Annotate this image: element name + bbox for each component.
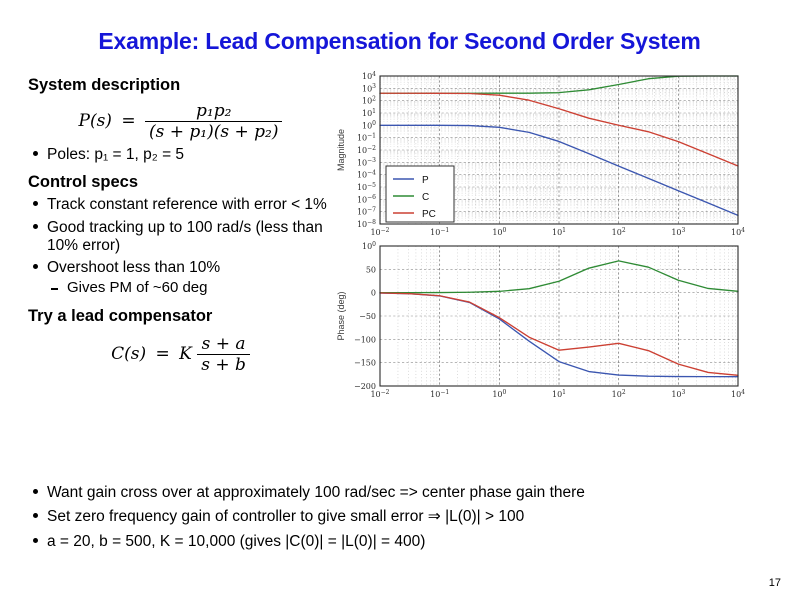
list-item: Good tracking up to 100 rad/s (less than…: [28, 219, 333, 256]
tick-label: 103: [671, 389, 685, 399]
list-item: Want gain cross over at approximately 10…: [28, 484, 773, 502]
legend-label-P: P: [422, 175, 429, 186]
heading-control-specs: Control specs: [28, 173, 333, 192]
tick-label: −200: [354, 382, 376, 391]
bode-plot-svg: 10−210−110010110210310410410310210110010…: [330, 70, 792, 400]
tick-label: 104: [362, 71, 376, 81]
page-title: Example: Lead Compensation for Second Or…: [0, 28, 799, 55]
tick-label: 100: [492, 389, 506, 399]
list-item: a = 20, b = 500, K = 10,000 (gives |C(0)…: [28, 533, 773, 551]
equation-plant-denominator: (s + p₁)(s + p₂): [145, 121, 282, 142]
equation-plant: P(s) = p₁p₂ (s + p₁)(s + p₂): [28, 101, 333, 142]
tick-label: 100: [362, 120, 376, 130]
equation-plant-numerator: p₁p₂: [145, 101, 282, 121]
left-content-column: System description P(s) = p₁p₂ (s + p₁)(…: [28, 76, 333, 379]
tick-label: 10−2: [370, 227, 389, 237]
tick-label: 10−3: [357, 157, 376, 167]
tick-label: −100: [354, 335, 376, 344]
tick-label: 102: [612, 227, 626, 237]
tick-label: 103: [671, 227, 685, 237]
system-description-bullets: Poles: p₁ = 1, p₂ = 5: [28, 146, 333, 164]
equation-plant-fraction: p₁p₂ (s + p₁)(s + p₂): [145, 101, 282, 142]
tick-label: 10−5: [357, 182, 376, 192]
y-axis-label: Magnitude: [336, 129, 346, 171]
tick-label: 100: [492, 227, 506, 237]
list-item: Track constant reference with error < 1%: [28, 196, 333, 214]
equation-compensator-equals: =: [155, 344, 169, 364]
heading-system-description: System description: [28, 76, 333, 95]
tick-label: 0: [371, 289, 376, 298]
tick-label: 10−4: [357, 169, 376, 179]
tick-label: 10−1: [430, 227, 449, 237]
heading-lead-compensator: Try a lead compensator: [28, 307, 333, 326]
phase-bode: 10−210−1100101102103104100500−50−100−150…: [336, 241, 745, 400]
tick-label: 104: [731, 389, 745, 399]
tick-label: 50: [366, 265, 376, 274]
equation-compensator-denominator: s + b: [197, 354, 250, 375]
legend: PCPC: [386, 166, 454, 222]
tick-label: 104: [731, 227, 745, 237]
tick-label: 102: [362, 95, 376, 105]
equation-plant-equals: =: [121, 111, 135, 131]
tick-label: 10−6: [357, 194, 376, 204]
legend-label-PC: PC: [422, 209, 436, 220]
tick-label: 101: [362, 108, 376, 118]
equation-plant-lhs: P(s): [79, 111, 112, 131]
tick-label: 102: [612, 389, 626, 399]
tick-label: −50: [359, 312, 376, 321]
tick-label: 10−1: [357, 132, 376, 142]
design-notes-bullets: Want gain cross over at approximately 10…: [28, 484, 773, 551]
design-notes: Want gain cross over at approximately 10…: [28, 478, 773, 557]
slide: Example: Lead Compensation for Second Or…: [0, 0, 799, 599]
list-item: Gives PM of ~60 deg: [47, 279, 333, 296]
equation-compensator-numerator: s + a: [197, 334, 250, 354]
slide-number: 17: [769, 577, 781, 589]
list-item: Poles: p₁ = 1, p₂ = 5: [28, 146, 333, 164]
control-specs-bullets: Track constant reference with error < 1%…: [28, 196, 333, 296]
tick-label: 101: [552, 227, 566, 237]
tick-label: 10−1: [430, 389, 449, 399]
equation-compensator-lhs: C(s): [111, 344, 146, 364]
equation-compensator-fraction: s + a s + b: [197, 334, 250, 375]
list-item: Overshoot less than 10% Gives PM of ~60 …: [28, 259, 333, 297]
list-item: Set zero frequency gain of controller to…: [28, 508, 773, 526]
tick-label: 103: [362, 83, 376, 93]
control-specs-subbullets: Gives PM of ~60 deg: [47, 279, 333, 296]
legend-label-C: C: [422, 192, 429, 203]
tick-label: 101: [552, 389, 566, 399]
equation-compensator-gain: K: [179, 344, 192, 364]
equation-compensator: C(s) = K s + a s + b: [28, 334, 333, 375]
bode-plots: 10−210−110010110210310410410310210110010…: [330, 70, 792, 400]
y-axis-label: Phase (deg): [336, 291, 346, 340]
tick-label: −150: [354, 359, 376, 368]
list-item-label: Overshoot less than 10%: [47, 259, 220, 276]
tick-label: 100: [362, 241, 376, 251]
tick-label: 10−7: [357, 206, 376, 216]
tick-label: 10−2: [357, 145, 376, 155]
magnitude-bode: 10−210−110010110210310410410310210110010…: [336, 71, 745, 237]
